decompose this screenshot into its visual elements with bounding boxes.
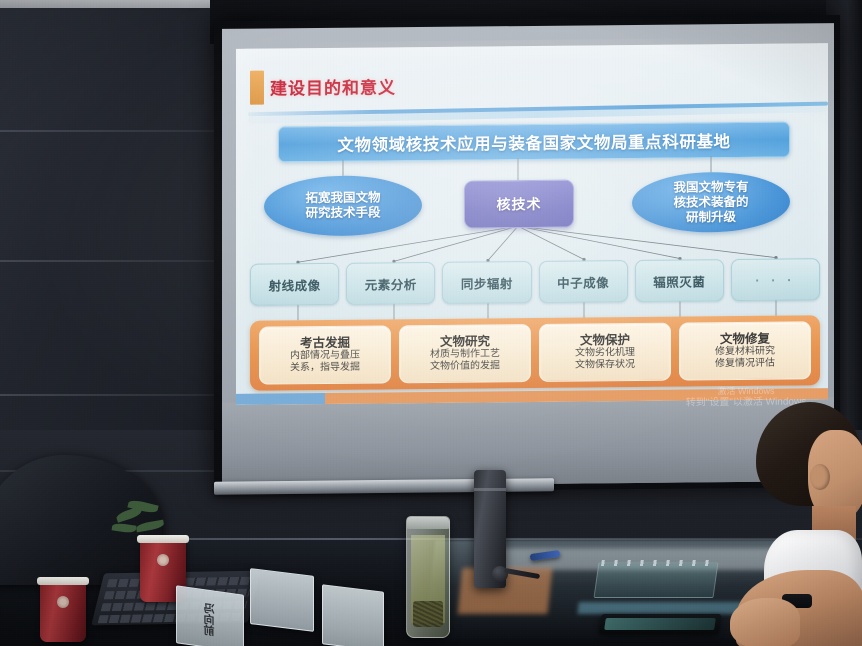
application-card: 文物修复 修复材料研究 修复情况评估 — [679, 321, 811, 380]
technique-label: 射线成像 — [269, 275, 321, 294]
application-line-1: 文物劣化机理 — [575, 347, 635, 360]
placard-name — [251, 569, 313, 631]
application-line-2: 修复情况评估 — [715, 358, 775, 371]
application-line-2: 关系，指导发掘 — [290, 362, 360, 375]
goal-node-right: 我国文物专有 核技术装备的 研制升级 — [632, 172, 790, 234]
application-heading: 文物保护 — [580, 333, 630, 347]
name-placard — [250, 568, 314, 632]
application-line-1: 修复材料研究 — [715, 346, 775, 359]
goal-right-line-3: 研制升级 — [673, 209, 748, 225]
application-line-1: 内部情况与叠压 — [290, 350, 360, 363]
technique-label: 同步辐射 — [461, 273, 513, 292]
application-line-1: 材质与制作工艺 — [430, 348, 500, 361]
application-heading: 文物研究 — [440, 334, 490, 348]
technique-box: 中子成像 — [539, 260, 628, 303]
name-placard — [322, 584, 384, 646]
application-heading: 考古发掘 — [300, 336, 350, 350]
title-divider — [248, 99, 828, 119]
conference-microphone — [492, 566, 538, 582]
technique-box: 射线成像 — [250, 263, 339, 306]
application-heading: 文物修复 — [720, 332, 770, 346]
smartphone — [599, 614, 722, 634]
technique-label: · · · — [755, 272, 795, 287]
technique-label: 中子成像 — [557, 272, 609, 291]
application-card: 文物研究 材质与制作工艺 文物价值的发掘 — [399, 324, 531, 383]
technique-label: 辐照灭菌 — [653, 271, 705, 290]
placard-name — [323, 585, 383, 646]
application-card: 文物保护 文物劣化机理 文物保存状况 — [539, 323, 671, 382]
application-line-2: 文物保存状况 — [575, 359, 635, 372]
technique-box: 辐照灭菌 — [635, 259, 724, 302]
core-technology-node: 核技术 — [464, 180, 574, 229]
slide-title: 建设目的和意义 — [270, 73, 396, 99]
goal-left-line-1: 拓宽我国文物 — [305, 190, 380, 206]
core-technology-label: 核技术 — [497, 194, 542, 214]
goal-right-line-2: 核技术装备的 — [673, 194, 748, 210]
goal-right-line-1: 我国文物专有 — [673, 179, 748, 195]
slide-banner: 文物领域核技术应用与装备国家文物局重点科研基地 — [278, 122, 790, 163]
technique-row: 射线成像 元素分析 同步辐射 中子成像 辐照灭菌 · · · — [250, 258, 820, 303]
technique-box: 元素分析 — [346, 262, 435, 305]
title-accent-bar — [250, 71, 264, 105]
technique-box: 同步辐射 — [442, 261, 531, 304]
application-card: 考古发掘 内部情况与叠压 关系，指导发掘 — [259, 325, 391, 384]
technique-box-ellipsis: · · · — [731, 258, 820, 301]
attendee-ear — [810, 464, 830, 490]
coffee-cup — [40, 582, 86, 642]
attendee — [738, 402, 862, 646]
presentation-slide: 建设目的和意义 文物领域核技术应用与装备国家文物局重点科研基地 — [236, 43, 828, 405]
notepad — [593, 562, 718, 598]
goal-left-line-2: 研究技术手段 — [305, 205, 380, 221]
application-line-2: 文物价值的发掘 — [430, 360, 500, 373]
tea-jar — [406, 516, 450, 638]
banner-text: 文物领域核技术应用与装备国家文物局重点科研基地 — [337, 128, 730, 156]
attendee-hand — [730, 598, 800, 646]
application-band: 考古发掘 内部情况与叠压 关系，指导发掘 文物研究 材质与制作工艺 文物价值的发… — [250, 315, 820, 390]
conference-room-photo: 建设目的和意义 文物领域核技术应用与装备国家文物局重点科研基地 — [0, 0, 862, 646]
goal-node-left: 拓宽我国文物 研究技术手段 — [264, 175, 422, 237]
technique-label: 元素分析 — [365, 274, 417, 293]
goal-node-row: 拓宽我国文物 研究技术手段 核技术 我国文物专有 核技术装备的 研制升级 — [236, 169, 828, 241]
placard-name: 冯向前 — [177, 586, 243, 646]
name-placard: 冯向前 — [176, 585, 244, 646]
